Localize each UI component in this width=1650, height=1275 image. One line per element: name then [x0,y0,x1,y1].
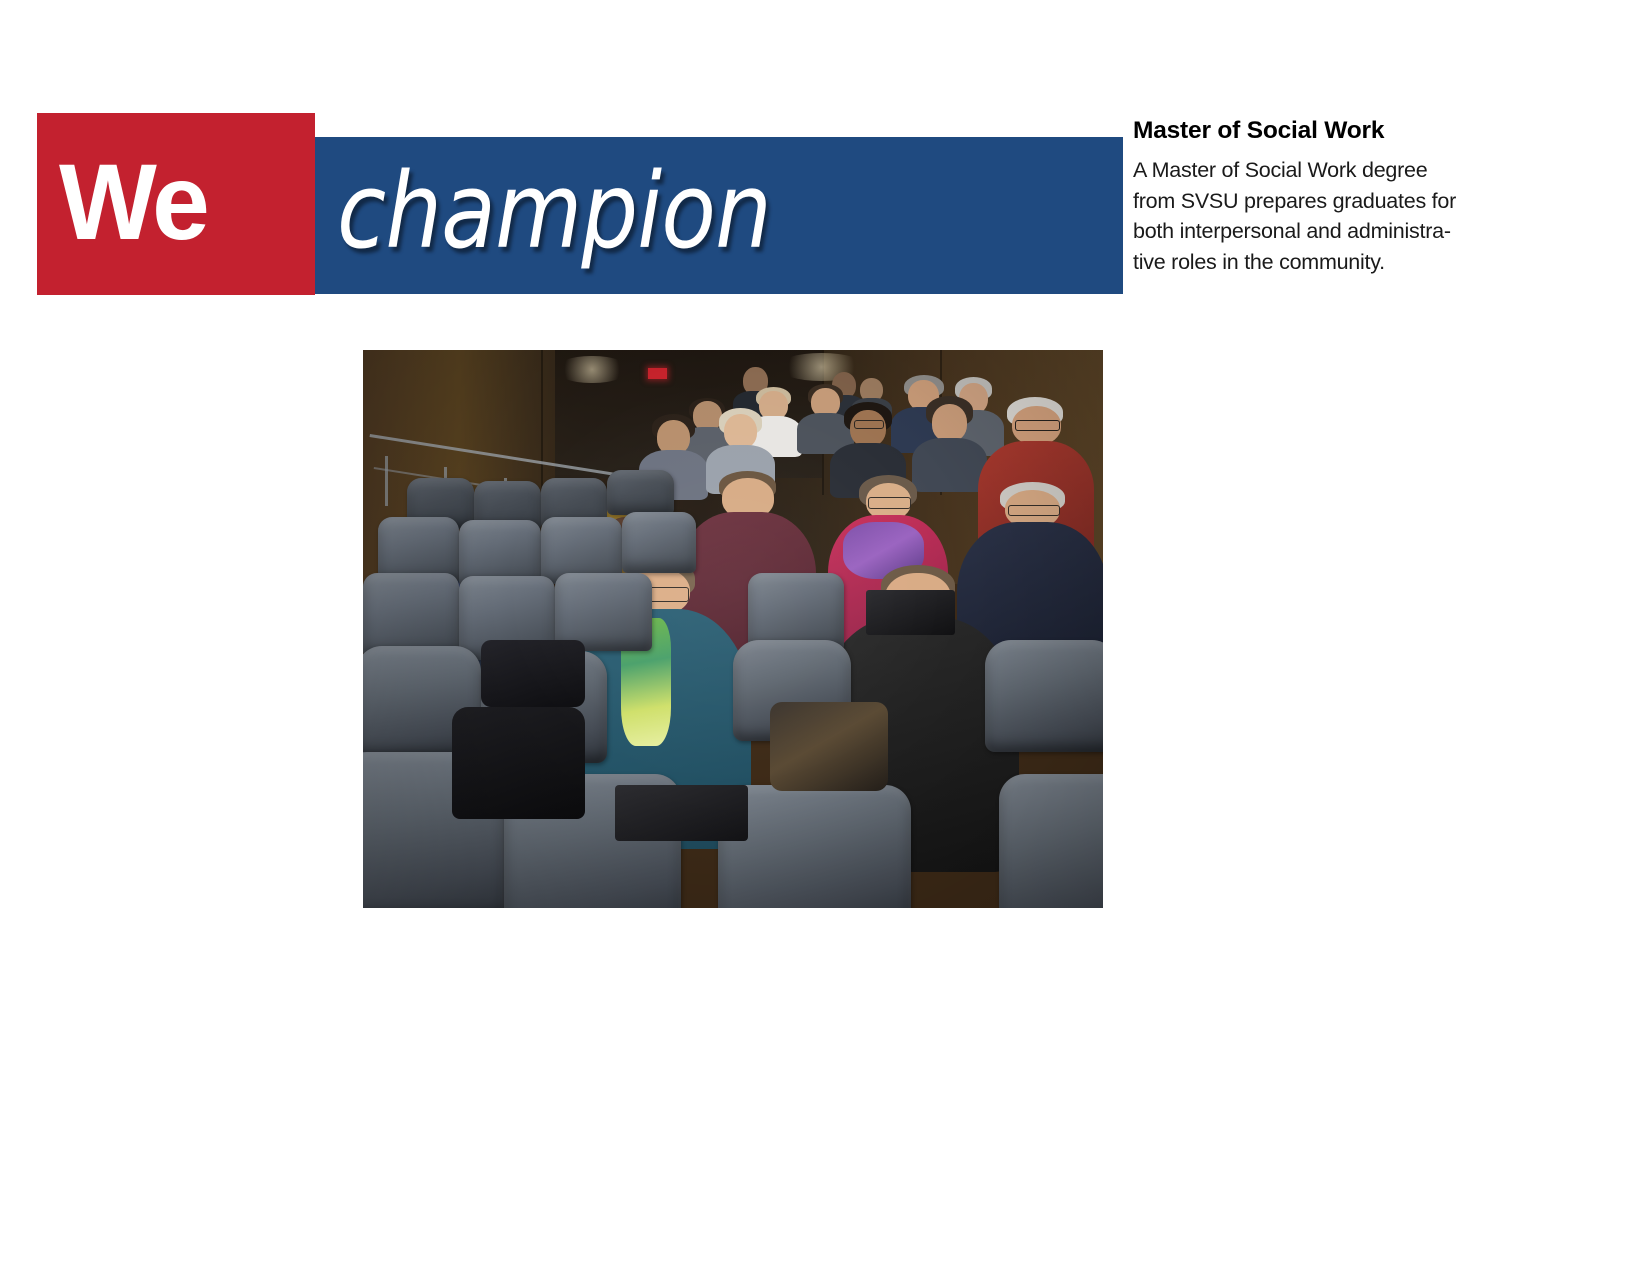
audience-person [837,406,900,484]
audience-person [918,400,981,478]
banner-word-we: We [59,143,299,261]
group-photo [363,350,1103,908]
program-title: Master of Social Work [1133,116,1493,146]
we-champion-banner: We champion [37,113,1123,295]
auditorium-seat-front [999,774,1103,908]
black-coat [452,707,585,819]
photo-scene [363,350,1103,908]
description-line-4: tive roles in the community. [1133,247,1493,278]
notebook [866,590,955,635]
exit-sign [648,368,667,379]
auditorium-seat [363,573,459,657]
description-line-3: both interpersonal and administra- [1133,216,1493,247]
program-info-column: Master of Social Work A Master of Social… [1133,116,1493,277]
banner-word-champion: champion [337,155,771,267]
folder [615,785,748,841]
description-line-2: from SVSU prepares graduates for [1133,186,1493,217]
patterned-bag [770,702,888,791]
description-line-1: A Master of Social Work degree [1133,155,1493,186]
auditorium-seat [607,470,674,515]
railing-post [385,456,388,506]
black-bag [481,640,585,707]
program-description: A Master of Social Work degree from SVSU… [1133,155,1493,277]
auditorium-seat [622,512,696,573]
auditorium-seat [985,640,1103,752]
